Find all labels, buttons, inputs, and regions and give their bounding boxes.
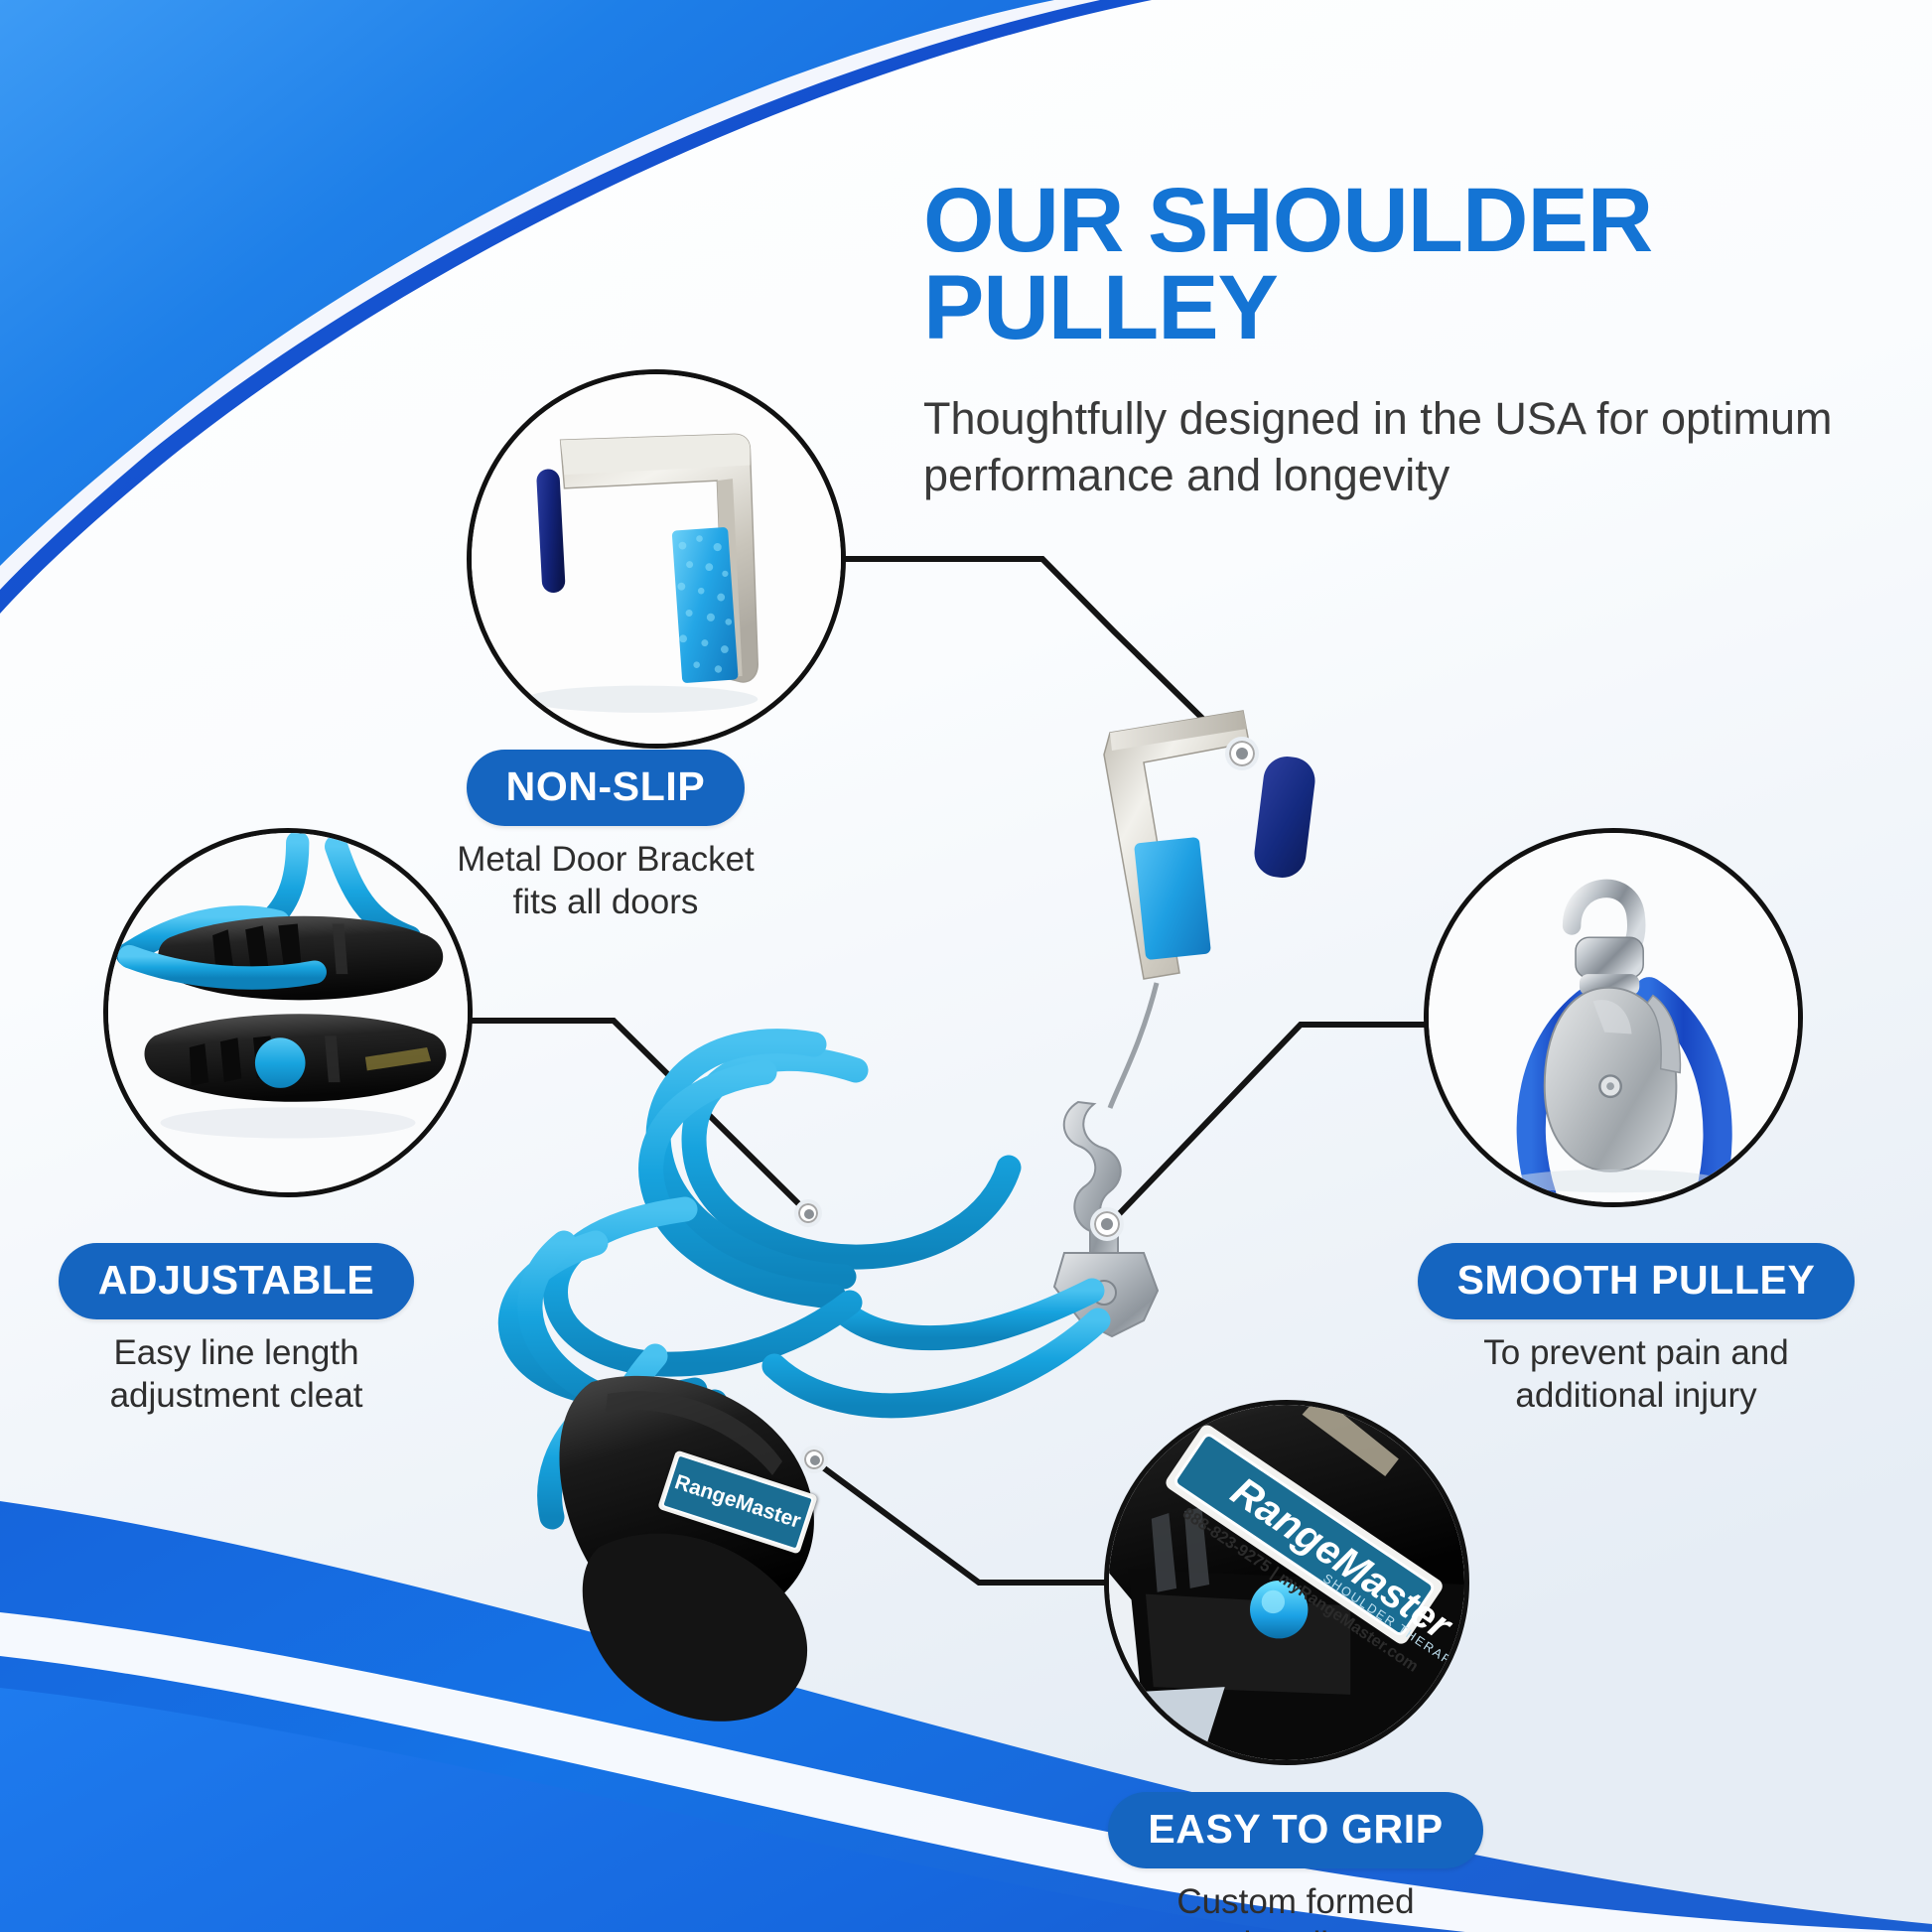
metal-door-bracket (1104, 711, 1317, 979)
anchor-dot-rope (794, 1199, 822, 1227)
non-slip-pad (1134, 837, 1211, 960)
caption-easy-to-grip: Custom formed handle (1062, 1881, 1529, 1932)
callout-easy-to-grip: EASY TO GRIP Custom formed handle (1062, 1792, 1529, 1932)
inset-door-bracket (467, 369, 846, 749)
caption-smooth-pulley: To prevent pain and additional injury (1403, 1332, 1869, 1417)
pulley-photo (1429, 833, 1798, 1202)
anchor-dot-hook (1090, 1207, 1124, 1241)
handle-grip-photo: RangeMaster 888-823-9275 | myRangeMaster… (1109, 1405, 1464, 1760)
inset-pulley (1424, 828, 1803, 1207)
anchor-dot-bracket (1225, 737, 1259, 770)
inset-handle-grip: RangeMaster 888-823-9275 | myRangeMaster… (1104, 1400, 1469, 1765)
page-title-line1: OUR SHOULDER (923, 177, 1916, 264)
infographic-canvas: RangeMaster (0, 0, 1932, 1932)
callout-adjustable: ADJUSTABLE Easy line length adjustment c… (28, 1243, 445, 1417)
badge-adjustable[interactable]: ADJUSTABLE (59, 1243, 415, 1319)
door-edge-grip (1252, 754, 1317, 880)
callout-smooth-pulley: SMOOTH PULLEY To prevent pain and additi… (1403, 1243, 1869, 1417)
badge-smooth-pulley[interactable]: SMOOTH PULLEY (1418, 1243, 1856, 1319)
badge-easy-to-grip[interactable]: EASY TO GRIP (1108, 1792, 1482, 1868)
page-title-line2: PULLEY (923, 264, 1916, 351)
badge-non-slip[interactable]: NON-SLIP (467, 750, 746, 826)
headline-block: OUR SHOULDER PULLEY Thoughtfully designe… (923, 177, 1916, 504)
caption-adjustable: Easy line length adjustment cleat (28, 1332, 445, 1417)
caption-non-slip: Metal Door Bracket fits all doors (397, 839, 814, 923)
steel-cable (1110, 983, 1157, 1108)
black-cleat-handle (559, 1376, 813, 1722)
callout-non-slip: NON-SLIP Metal Door Bracket fits all doo… (397, 750, 814, 923)
page-subtitle: Thoughtfully designed in the USA for opt… (923, 390, 1876, 504)
anchor-dot-handle (800, 1446, 828, 1473)
door-bracket-photo (472, 374, 841, 744)
